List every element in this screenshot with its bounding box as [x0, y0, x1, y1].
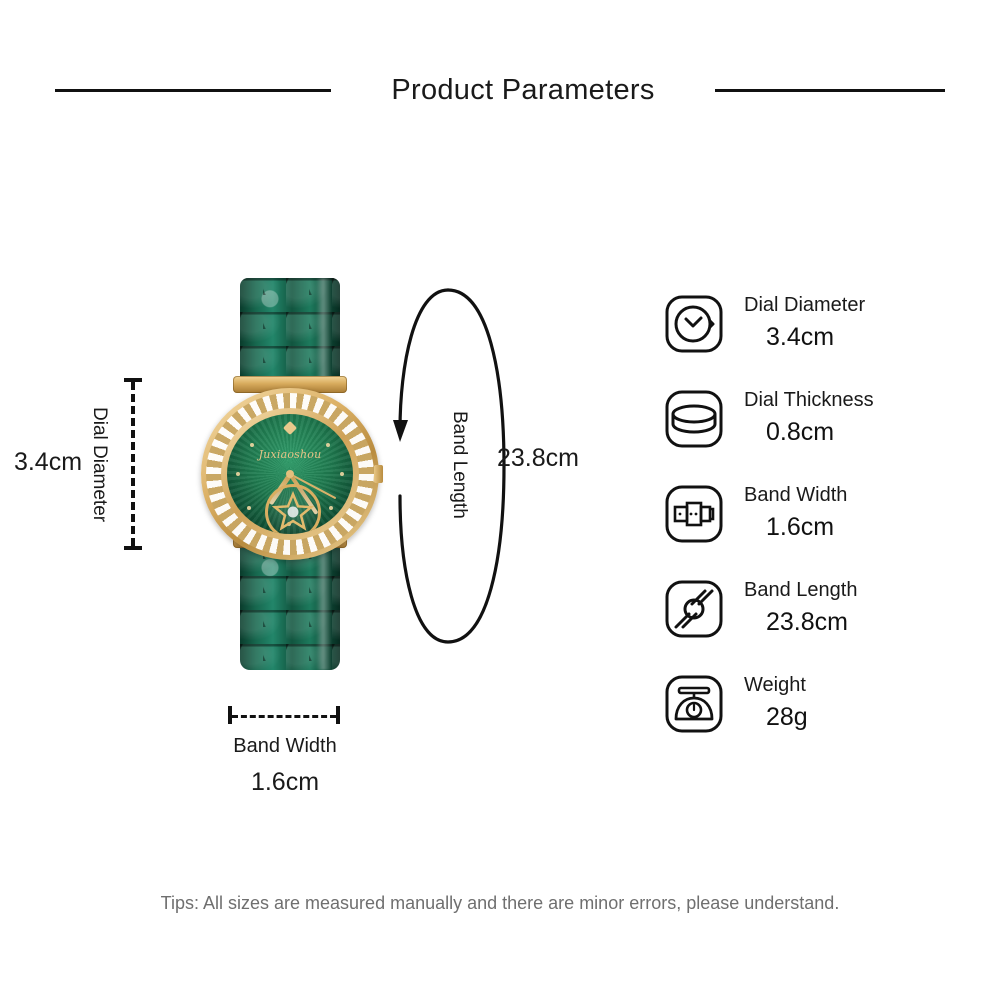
dimension-cap-bottom — [124, 546, 142, 550]
spec-row-band-width: Band Width 1.6cm — [662, 482, 992, 577]
band-length-value: 23.8cm — [497, 444, 579, 473]
watch-strap-icon — [662, 577, 726, 641]
spec-label: Dial Thickness — [744, 389, 874, 412]
dial-diameter-value: 3.4cm — [8, 448, 88, 477]
spec-value: 28g — [744, 703, 808, 732]
strap-gloss-lower — [316, 542, 332, 670]
dial-diameter-dimension-line — [120, 378, 146, 550]
spec-list: Dial Diameter 3.4cm Dial Thickness 0.8cm — [662, 292, 992, 767]
dimension-shaft-vertical — [131, 382, 135, 546]
watch-product-image: Juxiaoshou — [195, 278, 385, 670]
spec-row-band-length: Band Length 23.8cm — [662, 577, 992, 672]
spec-text-band-length: Band Length 23.8cm — [744, 577, 857, 637]
spec-text-weight: Weight 28g — [744, 672, 808, 732]
band-length-label: Band Length — [448, 390, 470, 540]
spec-label: Dial Diameter — [744, 294, 865, 317]
band-width-label: Band Width — [180, 735, 390, 758]
dial-diameter-label-text: Dial Diameter — [88, 407, 110, 522]
dimension-shaft-horizontal — [232, 715, 336, 718]
band-width-dimension-line — [228, 704, 340, 726]
header-rule-right — [715, 89, 945, 92]
spec-row-weight: Weight 28g — [662, 672, 992, 767]
dial-brand-text: Juxiaoshou — [227, 448, 353, 461]
spec-label: Weight — [744, 674, 808, 697]
page-title: Product Parameters — [391, 74, 654, 107]
page-header: Product Parameters — [0, 68, 1000, 112]
watch-clock-icon — [662, 292, 726, 356]
dial-hand-pivot — [286, 470, 294, 478]
product-parameters-page: Product Parameters 3.4cm Dial Diameter — [0, 0, 1000, 1000]
dial-diameter-label: Dial Diameter — [86, 380, 112, 550]
buckle-icon — [662, 482, 726, 546]
spec-label: Band Width — [744, 484, 847, 507]
disc-thickness-icon — [662, 387, 726, 451]
watch-case: Juxiaoshou — [201, 388, 379, 560]
band-length-label-text: Band Length — [448, 411, 470, 519]
dial-index-10 — [250, 443, 254, 447]
spec-text-dial-thickness: Dial Thickness 0.8cm — [744, 387, 874, 447]
watch-strap-lower — [240, 542, 340, 670]
spec-row-dial-diameter: Dial Diameter 3.4cm — [662, 292, 992, 387]
dial-star-medallion — [265, 484, 321, 534]
spec-value: 1.6cm — [744, 513, 847, 542]
strap-gloss-upper — [316, 278, 332, 382]
footer-tip: Tips: All sizes are measured manually an… — [0, 893, 1000, 914]
spec-value: 0.8cm — [744, 418, 874, 447]
spec-text-dial-diameter: Dial Diameter 3.4cm — [744, 292, 865, 352]
header-rule-left — [55, 89, 331, 92]
spec-text-band-width: Band Width 1.6cm — [744, 482, 847, 542]
band-width-value: 1.6cm — [180, 768, 390, 797]
spec-label: Band Length — [744, 579, 857, 602]
spec-row-dial-thickness: Dial Thickness 0.8cm — [662, 387, 992, 482]
dial-index-3 — [340, 472, 344, 476]
watch-dial: Juxiaoshou — [227, 414, 353, 534]
watch-strap-upper — [240, 278, 340, 382]
watch-crown — [374, 465, 383, 483]
dial-index-4 — [329, 506, 333, 510]
dimension-cap-right — [336, 706, 340, 724]
dial-index-9 — [236, 472, 240, 476]
kitchen-scale-icon — [662, 672, 726, 736]
spec-value: 23.8cm — [744, 608, 857, 637]
spec-value: 3.4cm — [744, 323, 865, 352]
